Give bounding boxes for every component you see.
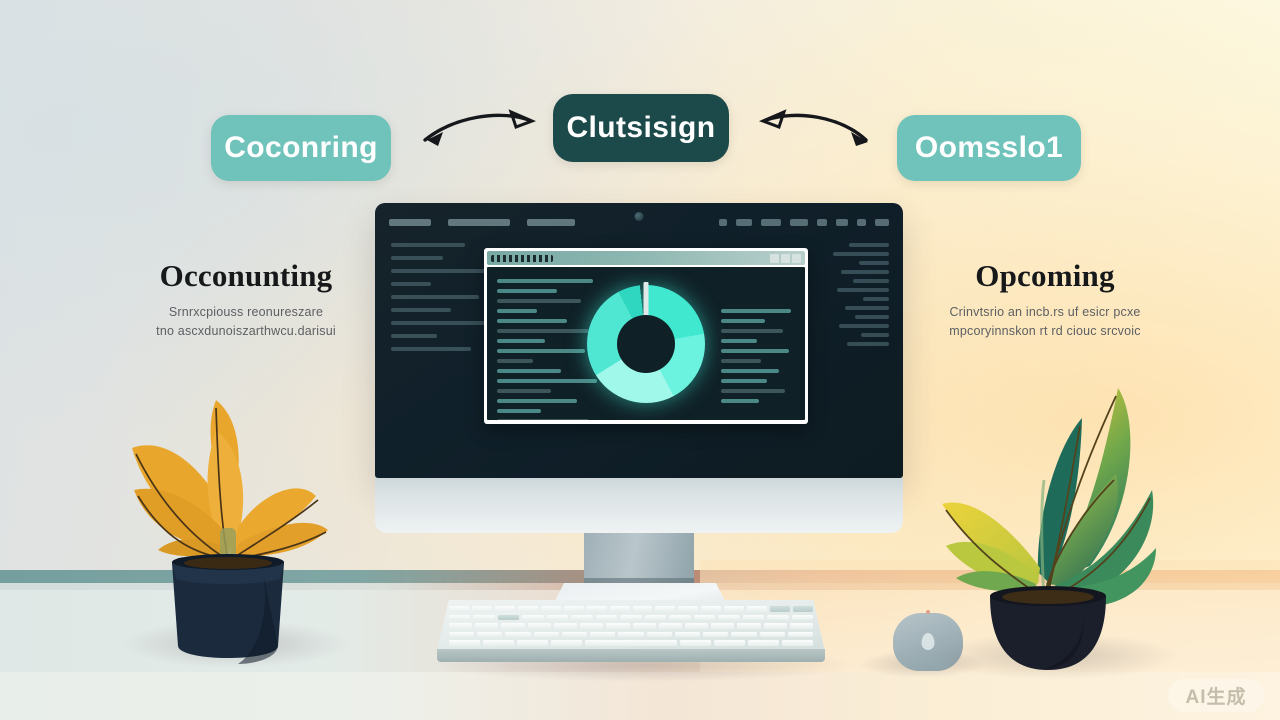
keyboard-key[interactable] [788, 632, 813, 638]
app-text-line [497, 339, 545, 343]
desktop-text-line [845, 306, 889, 310]
keyboard-key[interactable] [743, 615, 764, 621]
keyboard-key[interactable] [495, 606, 515, 612]
keyboard-key[interactable] [770, 606, 790, 612]
keyboard-key[interactable] [633, 623, 656, 629]
keyboard-key[interactable] [714, 640, 745, 646]
desktop-text-line [391, 256, 443, 260]
monitor-screen[interactable] [375, 203, 903, 478]
keyboard-key[interactable] [737, 623, 760, 629]
donut-chart-center [617, 315, 675, 373]
keyboard-key[interactable] [685, 623, 708, 629]
desktop-text-line [391, 308, 451, 312]
desktop-text-line [863, 297, 889, 301]
keyboard-key[interactable] [449, 623, 472, 629]
heading-block-right: Opcoming Crinvtsrio an incb.rs uf esicr … [900, 258, 1190, 342]
arrow-left-double [405, 96, 545, 154]
monitor-stand-neck [584, 533, 694, 583]
keyboard-key[interactable] [767, 615, 788, 621]
system-tray-icon[interactable] [761, 219, 781, 226]
heading-right-sub-line2: mpcoryinnskon rt rd ciouc srcvoic [900, 322, 1190, 341]
desktop-text-line [391, 295, 479, 299]
keyboard-key[interactable] [793, 606, 813, 612]
app-window-title [491, 255, 553, 262]
monitor-bezel-chin [375, 478, 903, 533]
app-text-line [497, 289, 557, 293]
keyboard-key[interactable] [647, 632, 672, 638]
keyboard-keys[interactable] [449, 606, 813, 646]
keyboard-key[interactable] [655, 606, 675, 612]
plant-left-pot [172, 554, 284, 664]
keyboard-key[interactable] [606, 623, 629, 629]
keyboard-key[interactable] [620, 615, 641, 621]
app-text-line [497, 379, 597, 383]
app-text-line [721, 329, 783, 333]
keyboard-key[interactable] [782, 640, 813, 646]
heading-block-left: Occonunting Srnrxcpiouss reonureszare tn… [110, 258, 382, 342]
heading-right-sub: Crinvtsrio an incb.rs uf esicr pcxe mpco… [900, 303, 1190, 342]
system-tray-icon[interactable] [875, 219, 889, 226]
desktop-text-line [855, 315, 889, 319]
keyboard-key[interactable] [564, 606, 584, 612]
heading-left-sub-line1: Srnrxcpiouss reonureszare [110, 303, 382, 322]
keyboard-key[interactable] [587, 606, 607, 612]
desktop-text-line [391, 321, 495, 325]
watermark-label: AI生成 [1185, 682, 1246, 709]
keyboard-key[interactable] [483, 640, 514, 646]
app-text-line [497, 419, 589, 420]
desktop-text-line [849, 243, 889, 247]
system-tray-icon[interactable] [857, 219, 866, 226]
keyboard-key[interactable] [449, 640, 480, 646]
app-text-line [497, 369, 561, 373]
badge-left-label: Coconring [224, 131, 378, 165]
arrow-right-double [748, 96, 888, 156]
desktop-text-line [391, 334, 437, 338]
desktop-text-line [833, 252, 889, 256]
keyboard-key[interactable] [675, 632, 700, 638]
keyboard-key[interactable] [790, 623, 813, 629]
plant-left-leaves [132, 400, 328, 572]
keyboard-row [449, 606, 813, 612]
system-tray-icon[interactable] [736, 219, 752, 226]
keyboard-row [449, 632, 813, 638]
desktop-text-line [391, 243, 465, 247]
desktop-menubar[interactable] [389, 219, 575, 226]
keyboard-key[interactable] [475, 623, 498, 629]
desktop-text-line [839, 324, 889, 328]
donut-chart [587, 285, 705, 403]
heading-right-title: Opcoming [900, 258, 1190, 294]
maximize-button[interactable] [781, 254, 790, 263]
menubar-item[interactable] [448, 219, 510, 226]
desktop-text-line [859, 261, 889, 265]
badge-center[interactable]: Clutsisign [553, 94, 729, 162]
app-text-line [721, 339, 757, 343]
app-text-line [721, 319, 765, 323]
plant-right-leaves [942, 388, 1156, 606]
app-window-controls[interactable] [770, 254, 801, 263]
desktop-text-line [391, 282, 431, 286]
app-text-line [497, 359, 533, 363]
app-window[interactable] [484, 248, 808, 424]
app-text-line [721, 379, 767, 383]
keyboard-key[interactable] [748, 640, 779, 646]
desktop-text-line [841, 270, 889, 274]
keyboard-row [449, 640, 813, 646]
keyboard-key[interactable] [764, 623, 787, 629]
keyboard-key[interactable] [477, 632, 502, 638]
app-text-line [497, 309, 537, 313]
heading-left-sub-line2: tno ascxdunoiszarthwcu.darisui [110, 322, 382, 341]
keyboard-key[interactable] [517, 640, 548, 646]
app-text-line [497, 399, 577, 403]
heading-left-sub: Srnrxcpiouss reonureszare tno ascxdunois… [110, 303, 382, 342]
desktop-text-line [391, 269, 487, 273]
keyboard-key[interactable] [711, 623, 734, 629]
keyboard-key[interactable] [505, 632, 530, 638]
heading-right-sub-line1: Crinvtsrio an incb.rs uf esicr pcxe [900, 303, 1190, 322]
keyboard-key[interactable] [792, 615, 813, 621]
watermark-badge: AI生成 [1168, 679, 1264, 712]
desktop-text-line [853, 279, 889, 283]
app-window-body [487, 267, 805, 420]
keyboard-key[interactable] [659, 623, 682, 629]
badge-center-label: Clutsisign [566, 111, 715, 145]
keyboard-key[interactable] [703, 632, 728, 638]
keyboard-key[interactable] [580, 623, 603, 629]
keyboard-key[interactable] [633, 606, 653, 612]
keyboard-row [449, 615, 813, 621]
keyboard-key[interactable] [551, 640, 582, 646]
app-text-line [721, 309, 791, 313]
app-window-titlebar[interactable] [487, 251, 805, 265]
keyboard-key[interactable] [678, 606, 698, 612]
keyboard-key[interactable] [694, 615, 715, 621]
desktop-right-text [829, 243, 889, 346]
close-button[interactable] [792, 254, 801, 263]
keyboard-key[interactable] [590, 632, 615, 638]
app-text-line [497, 409, 541, 413]
plant-right [930, 352, 1165, 670]
keyboard-key[interactable] [522, 615, 543, 621]
keyboard-key[interactable] [596, 615, 617, 621]
heading-left-title: Occonunting [110, 258, 382, 294]
keyboard-key[interactable] [760, 632, 785, 638]
keyboard-key[interactable] [547, 615, 568, 621]
webcam-icon [635, 212, 644, 221]
minimize-button[interactable] [770, 254, 779, 263]
app-text-line [497, 279, 593, 283]
keyboard-key[interactable] [724, 606, 744, 612]
badge-left[interactable]: Coconring [211, 115, 391, 181]
keyboard-key[interactable] [518, 606, 538, 612]
keyboard-key[interactable] [541, 606, 561, 612]
keyboard-key[interactable] [498, 615, 519, 621]
keyboard-key[interactable] [718, 615, 739, 621]
app-text-line [721, 359, 761, 363]
system-tray-icon[interactable] [790, 219, 808, 226]
app-right-text-column [721, 309, 797, 403]
keyboard-key[interactable] [449, 606, 469, 612]
desktop-text-line [391, 347, 471, 351]
keyboard-key[interactable] [610, 606, 630, 612]
keyboard-key[interactable] [562, 632, 587, 638]
keyboard-key[interactable] [473, 615, 494, 621]
keyboard-key[interactable] [747, 606, 767, 612]
badge-right[interactable]: Oomsslo1 [897, 115, 1081, 181]
desktop-text-line [847, 342, 889, 346]
keyboard-key[interactable] [618, 632, 643, 638]
desktop-system-icons[interactable] [719, 219, 889, 226]
app-text-line [497, 329, 589, 333]
keyboard-key[interactable] [585, 640, 678, 646]
app-text-line [721, 389, 785, 393]
desktop-text-line [837, 288, 889, 292]
plant-right-pot [990, 586, 1106, 670]
keyboard-row [449, 623, 813, 629]
keyboard-key[interactable] [528, 623, 551, 629]
menubar-item[interactable] [527, 219, 575, 226]
badge-right-label: Oomsslo1 [915, 131, 1063, 165]
keyboard-key[interactable] [449, 615, 470, 621]
plant-left [120, 378, 335, 668]
system-tray-icon[interactable] [719, 219, 727, 226]
desktop-text-line [861, 333, 889, 337]
keyboard-key[interactable] [645, 615, 666, 621]
app-text-line [497, 349, 585, 353]
keyboard-key[interactable] [680, 640, 711, 646]
app-text-line [721, 399, 759, 403]
system-tray-icon[interactable] [817, 219, 827, 226]
keyboard-key[interactable] [472, 606, 492, 612]
keyboard-key[interactable] [731, 632, 756, 638]
keyboard-key[interactable] [449, 632, 474, 638]
keyboard-key[interactable] [554, 623, 577, 629]
donut-chart-gap-marker [644, 282, 649, 316]
app-text-line [497, 319, 567, 323]
keyboard[interactable] [437, 600, 825, 662]
app-text-line [721, 349, 789, 353]
keyboard-key[interactable] [701, 606, 721, 612]
keyboard-front-edge [437, 649, 825, 662]
app-text-line [497, 299, 581, 303]
menubar-item[interactable] [389, 219, 431, 226]
keyboard-key[interactable] [534, 632, 559, 638]
app-text-line [721, 369, 779, 373]
illustration-canvas: Coconring Clutsisign Oomsslo1 Occonuntin… [0, 0, 1280, 720]
keyboard-key[interactable] [571, 615, 592, 621]
keyboard-key[interactable] [669, 615, 690, 621]
system-tray-icon[interactable] [836, 219, 848, 226]
keyboard-key[interactable] [501, 623, 524, 629]
app-text-line [497, 389, 551, 393]
